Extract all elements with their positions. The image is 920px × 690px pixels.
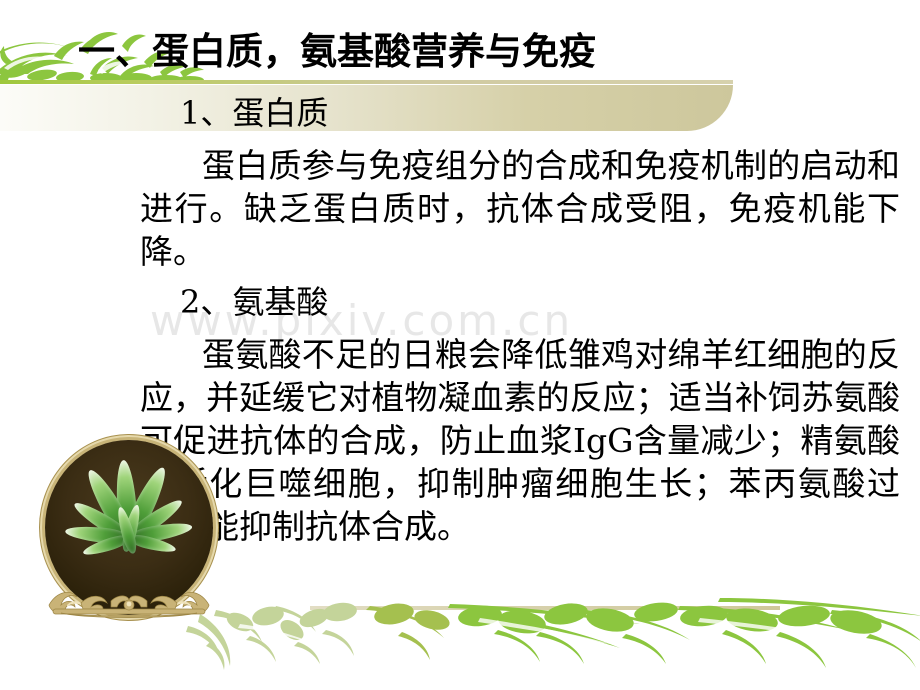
- section-body-1: 蛋白质参与免疫组分的合成和免疫机制的启动和进行。缺乏蛋白质时，抗体合成受阻，免疫…: [140, 144, 900, 273]
- medallion-ring: [45, 440, 213, 615]
- plant-photo-medallion: [45, 440, 213, 615]
- title-underline-rule: [0, 80, 733, 84]
- slide-body: 1、蛋白质 蛋白质参与免疫组分的合成和免疫机制的启动和进行。缺乏蛋白质时，抗体合…: [140, 92, 920, 548]
- slide-canvas: 一、蛋白质，氨基酸营养与免疫 www.pixiv.com.cn 1、蛋白质 蛋白…: [0, 0, 920, 690]
- section-heading-1: 1、蛋白质: [140, 92, 920, 134]
- section-body-2: 蛋氨酸不足的日粮会降低雏鸡对绵羊红细胞的反应，并延缓它对植物凝血素的反应；适当补…: [140, 333, 900, 548]
- bottom-rule: [310, 606, 780, 610]
- section-heading-2: 2、氨基酸: [140, 281, 920, 323]
- page-title: 一、蛋白质，氨基酸营养与免疫: [78, 28, 878, 76]
